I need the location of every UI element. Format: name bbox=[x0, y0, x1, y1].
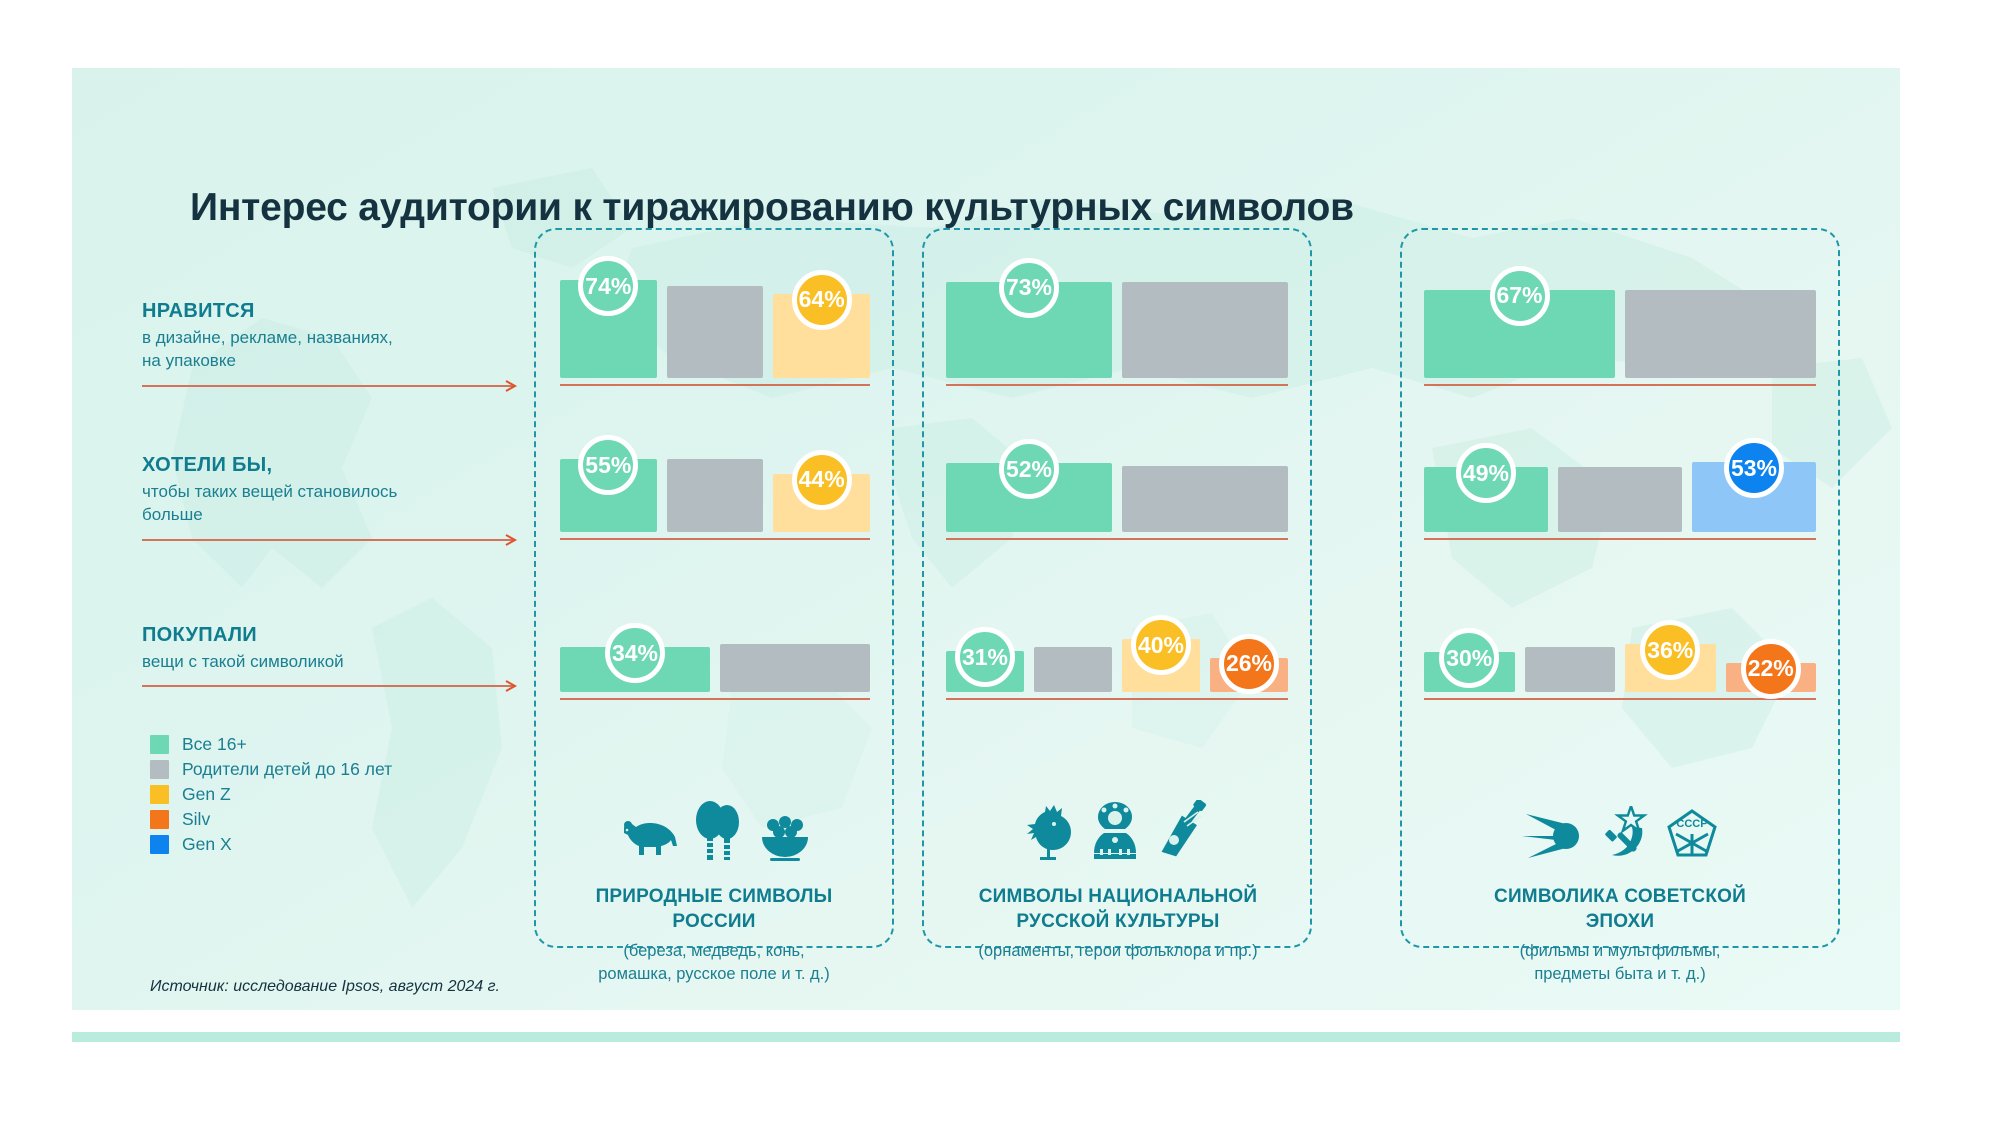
bar-parents bbox=[1034, 647, 1112, 692]
bars-container: 52% bbox=[946, 414, 1288, 532]
bar-group-likes-soviet: 67% bbox=[1424, 256, 1816, 386]
value-badge-genz: 64% bbox=[792, 270, 852, 330]
legend-label: Gen X bbox=[182, 835, 232, 854]
value-badge-all16: 73% bbox=[999, 258, 1059, 318]
value-badge-all16: 67% bbox=[1490, 266, 1550, 326]
row-label-subtitle: чтобы таких вещей становилосьбольше bbox=[142, 480, 532, 526]
bar-parents bbox=[720, 644, 870, 692]
bar-parents bbox=[667, 286, 764, 378]
bar-baseline bbox=[560, 698, 870, 700]
bar-group-want-soviet: 49%53% bbox=[1424, 410, 1816, 540]
bar-baseline bbox=[946, 384, 1288, 386]
bars-container: 31%40%26% bbox=[946, 574, 1288, 692]
legend-item-genx: Gen X bbox=[150, 832, 392, 857]
legend-item-parents: Родители детей до 16 лет bbox=[150, 757, 392, 782]
source-note: Источник: исследование Ipsos, август 202… bbox=[150, 978, 500, 996]
svg-text:СССР: СССР bbox=[1676, 818, 1707, 830]
legend-swatch-icon bbox=[150, 735, 169, 754]
row-label-purchased: ПОКУПАЛИ вещи с такой символикой bbox=[142, 622, 532, 673]
bar-group-bought-culture: 31%40%26% bbox=[946, 570, 1288, 700]
matryoshka-icon bbox=[1090, 800, 1140, 862]
page-title: Интерес аудитории к тиражированию культу… bbox=[190, 186, 1354, 230]
berry-bowl-icon bbox=[758, 812, 812, 862]
panel-caption-national-culture: СИМВОЛЫ НАЦИОНАЛЬНОЙРУССКОЙ КУЛЬТУРЫ (ор… bbox=[940, 800, 1296, 963]
bars-container: 34% bbox=[560, 574, 870, 692]
cccp-quality-mark-icon: СССР bbox=[1666, 808, 1718, 862]
value-badge-all16: 31% bbox=[955, 627, 1015, 687]
rooster-icon bbox=[1026, 800, 1076, 862]
bar-parents bbox=[667, 459, 764, 532]
value-badge-genz: 44% bbox=[792, 450, 852, 510]
row-arrow-icon bbox=[142, 680, 522, 692]
bar-group-want-natural: 55%44% bbox=[560, 410, 870, 540]
legend-label: Silv bbox=[182, 810, 210, 829]
value-badge-genz: 40% bbox=[1131, 615, 1191, 675]
panel-caption-subtitle: (береза, медведь, конь,ромашка, русское … bbox=[556, 940, 872, 986]
legend-label: Родители детей до 16 лет bbox=[182, 760, 392, 779]
legend-item-all16: Все 16+ bbox=[150, 732, 392, 757]
panel-icons bbox=[556, 800, 872, 862]
panel-caption-subtitle: (орнаменты, герои фольклора и пр.) bbox=[940, 940, 1296, 963]
legend-swatch-icon bbox=[150, 835, 169, 854]
value-badge-silv: 26% bbox=[1219, 634, 1279, 694]
legend-item-genz: Gen Z bbox=[150, 782, 392, 807]
bar-parents bbox=[1122, 466, 1288, 532]
panel-icons bbox=[940, 800, 1296, 862]
panel-caption-subtitle: (фильмы и мультфильмы,предметы быта и т.… bbox=[1418, 940, 1822, 986]
row-arrow-icon bbox=[142, 534, 522, 546]
legend-swatch-icon bbox=[150, 760, 169, 779]
bar-group-want-culture: 52% bbox=[946, 410, 1288, 540]
bars-container: 74%64% bbox=[560, 260, 870, 378]
sputnik-icon bbox=[1522, 810, 1584, 862]
legend-item-silv: Silv bbox=[150, 807, 392, 832]
bar-baseline bbox=[1424, 384, 1816, 386]
birch-trees-icon bbox=[692, 800, 744, 862]
bar-baseline bbox=[1424, 538, 1816, 540]
hammer-sickle-star-icon bbox=[1598, 806, 1652, 862]
row-label-likes: НРАВИТСЯ в дизайне, рекламе, названиях,н… bbox=[142, 298, 532, 372]
row-arrow-icon bbox=[142, 380, 522, 392]
panel-caption-soviet-era: СССР СИМВОЛИКА СОВЕТСКОЙЭПОХИ (фильмы и … bbox=[1418, 800, 1822, 986]
bar-parents bbox=[1558, 467, 1682, 532]
legend-swatch-icon bbox=[150, 810, 169, 829]
infographic-stage: Интерес аудитории к тиражированию культу… bbox=[0, 0, 2000, 1125]
bar-baseline bbox=[946, 538, 1288, 540]
bar-baseline bbox=[560, 384, 870, 386]
value-badge-genx: 53% bbox=[1724, 438, 1784, 498]
value-badge-all16: 34% bbox=[605, 623, 665, 683]
bar-group-likes-culture: 73% bbox=[946, 256, 1288, 386]
panel-caption-natural-symbols: ПРИРОДНЫЕ СИМВОЛЫРОССИИ (береза, медведь… bbox=[556, 800, 872, 986]
bar-group-bought-natural: 34% bbox=[560, 570, 870, 700]
bar-parents bbox=[1625, 290, 1816, 378]
legend-swatch-icon bbox=[150, 785, 169, 804]
bar-baseline bbox=[946, 698, 1288, 700]
value-badge-all16: 52% bbox=[999, 439, 1059, 499]
row-label-title: ПОКУПАЛИ bbox=[142, 622, 532, 648]
panel-caption-title: ПРИРОДНЫЕ СИМВОЛЫРОССИИ bbox=[556, 884, 872, 934]
bottom-accent-strip bbox=[72, 1032, 1900, 1042]
bars-container: 67% bbox=[1424, 260, 1816, 378]
row-label-would-like: ХОТЕЛИ БЫ, чтобы таких вещей становилось… bbox=[142, 452, 532, 526]
legend-label: Gen Z bbox=[182, 785, 231, 804]
row-label-subtitle: вещи с такой символикой bbox=[142, 650, 532, 673]
bar-group-bought-soviet: 30%36%22% bbox=[1424, 570, 1816, 700]
panel-icons: СССР bbox=[1418, 800, 1822, 862]
balalaika-icon bbox=[1154, 800, 1210, 862]
panel-caption-title: СИМВОЛЫ НАЦИОНАЛЬНОЙРУССКОЙ КУЛЬТУРЫ bbox=[940, 884, 1296, 934]
value-badge-all16: 49% bbox=[1456, 443, 1516, 503]
row-label-subtitle: в дизайне, рекламе, названиях,на упаковк… bbox=[142, 326, 532, 372]
legend: Все 16+ Родители детей до 16 лет Gen Z S… bbox=[150, 732, 392, 857]
legend-label: Все 16+ bbox=[182, 735, 247, 754]
bear-icon bbox=[616, 812, 678, 862]
bars-container: 30%36%22% bbox=[1424, 574, 1816, 692]
bar-parents bbox=[1122, 282, 1288, 378]
row-label-title: НРАВИТСЯ bbox=[142, 298, 532, 324]
bars-container: 73% bbox=[946, 260, 1288, 378]
panel-caption-title: СИМВОЛИКА СОВЕТСКОЙЭПОХИ bbox=[1418, 884, 1822, 934]
bar-parents bbox=[1525, 647, 1616, 692]
bar-baseline bbox=[1424, 698, 1816, 700]
value-badge-silv: 22% bbox=[1741, 639, 1801, 699]
row-label-title: ХОТЕЛИ БЫ, bbox=[142, 452, 532, 478]
bar-group-likes-natural: 74%64% bbox=[560, 256, 870, 386]
bars-container: 55%44% bbox=[560, 414, 870, 532]
bars-container: 49%53% bbox=[1424, 414, 1816, 532]
bar-baseline bbox=[560, 538, 870, 540]
